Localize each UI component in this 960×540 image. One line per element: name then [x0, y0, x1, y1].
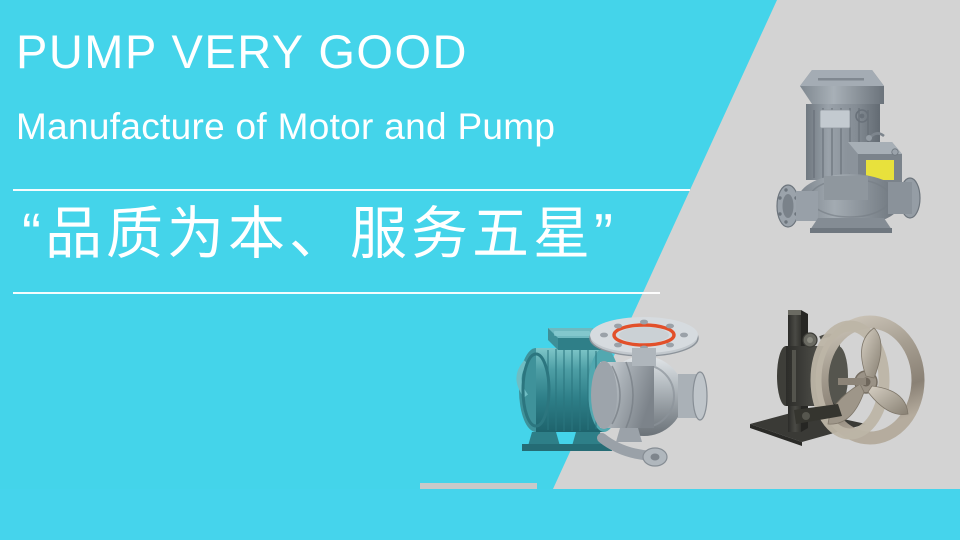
- page-title: PUMP VERY GOOD: [16, 28, 468, 75]
- divider-bottom: [13, 292, 660, 294]
- bottom-bar: [0, 489, 960, 540]
- slogan-chinese: “品质为本、服务五星”: [22, 203, 617, 266]
- product-image-vertical-inline-pipeline-pump: [762, 48, 952, 248]
- product-image-submersible-mixer-agitator: [742, 292, 942, 472]
- page-subtitle: Manufacture of Motor and Pump: [16, 108, 555, 145]
- divider-top: [13, 189, 690, 191]
- headline-text-block: PUMP VERY GOOD Manufacture of Motor and …: [0, 0, 760, 489]
- promotional-banner: PUMP VERY GOOD Manufacture of Motor and …: [0, 0, 960, 540]
